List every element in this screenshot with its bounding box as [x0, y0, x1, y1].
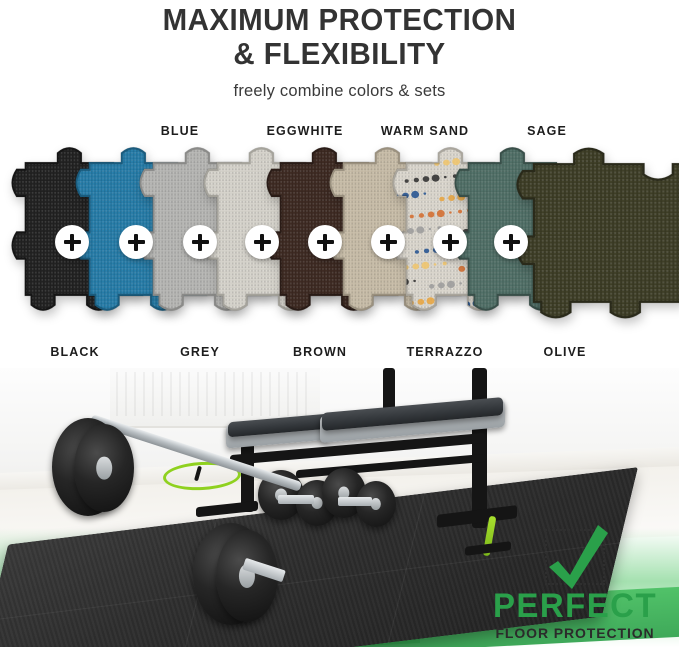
plus-icon-8[interactable] [494, 225, 528, 259]
check-icon [536, 515, 614, 595]
plate-hub [371, 498, 381, 510]
tile-label-sage: SAGE [527, 124, 567, 138]
plus-icon-4[interactable] [245, 225, 279, 259]
plus-icon-7[interactable] [433, 225, 467, 259]
plus-icon-2[interactable] [119, 225, 153, 259]
page-subtitle: freely combine colors & sets [0, 82, 679, 101]
perfect-floor-protection-badge: PERFECT FLOOR PROTECTION [487, 529, 663, 641]
plus-icon-3[interactable] [183, 225, 217, 259]
plus-icon-5[interactable] [308, 225, 342, 259]
check-icon-frame [545, 529, 605, 585]
tile-label-eggwhite: EGGWHITE [267, 124, 344, 138]
dumbbell-bar-2 [338, 497, 372, 506]
product-infographic: MAXIMUM PROTECTION & FLEXIBILITY freely … [0, 0, 679, 647]
page-title-line2: & FLEXIBILITY [17, 38, 662, 69]
dumbbell-bar-1 [278, 495, 314, 504]
badge-title: PERFECT [490, 590, 661, 622]
tile-label-warm-sand: WARM SAND [381, 124, 469, 138]
tile-label-olive: OLIVE [543, 345, 586, 359]
page-title-line1: MAXIMUM PROTECTION [17, 4, 662, 35]
tile-label-grey: GREY [180, 345, 220, 359]
plus-icon-6[interactable] [371, 225, 405, 259]
bench-upright-right [472, 368, 487, 528]
tile-label-black: BLACK [50, 345, 99, 359]
plus-icon-1[interactable] [55, 225, 89, 259]
badge-subtitle: FLOOR PROTECTION [487, 625, 663, 641]
tile-label-terrazzo: TERRAZZO [407, 345, 484, 359]
tile-label-blue: BLUE [161, 124, 199, 138]
barbell-plate-left-inner [74, 424, 134, 512]
tile-label-brown: BROWN [293, 345, 347, 359]
plate-hub [96, 457, 112, 480]
color-tile-olive[interactable] [512, 140, 679, 326]
